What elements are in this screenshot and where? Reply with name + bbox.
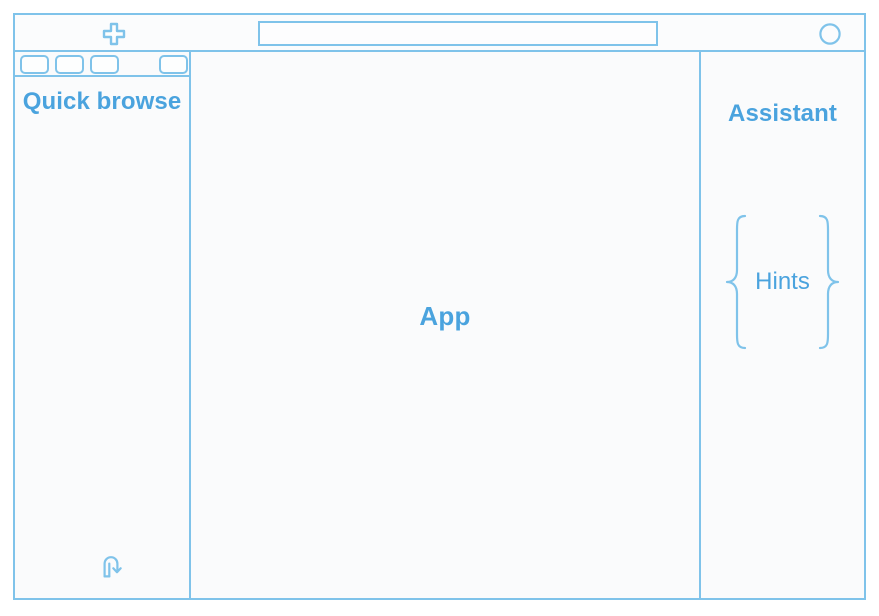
sidebar: Quick browse (15, 52, 191, 598)
sidebar-tab-bar (15, 52, 189, 77)
sidebar-bottom-action-button[interactable] (93, 548, 133, 584)
sidebar-tab-2[interactable] (55, 55, 84, 74)
body-region: Quick browse App Assistant Hint (15, 52, 864, 598)
u-turn-arrow-icon (98, 551, 128, 581)
hints-block: Hints (701, 207, 864, 357)
account-button[interactable] (810, 18, 850, 50)
sidebar-tab-4[interactable] (159, 55, 188, 74)
search-input[interactable] (258, 21, 658, 46)
assistant-title: Assistant (701, 100, 864, 128)
header-bar (15, 15, 864, 52)
app-canvas[interactable]: App (191, 52, 701, 598)
hints-label: Hints (749, 268, 816, 296)
left-curly-brace-icon (723, 212, 749, 352)
sidebar-tab-1[interactable] (20, 55, 49, 74)
plus-icon (101, 21, 127, 47)
wireframe-window: Quick browse App Assistant Hint (13, 13, 866, 600)
app-label: App (419, 301, 470, 332)
sidebar-title: Quick browse (15, 87, 189, 117)
sidebar-tab-3[interactable] (90, 55, 119, 74)
assistant-panel: Assistant Hints (701, 52, 864, 598)
add-button[interactable] (92, 18, 136, 50)
right-curly-brace-icon (816, 212, 842, 352)
circle-avatar-icon (818, 22, 842, 46)
